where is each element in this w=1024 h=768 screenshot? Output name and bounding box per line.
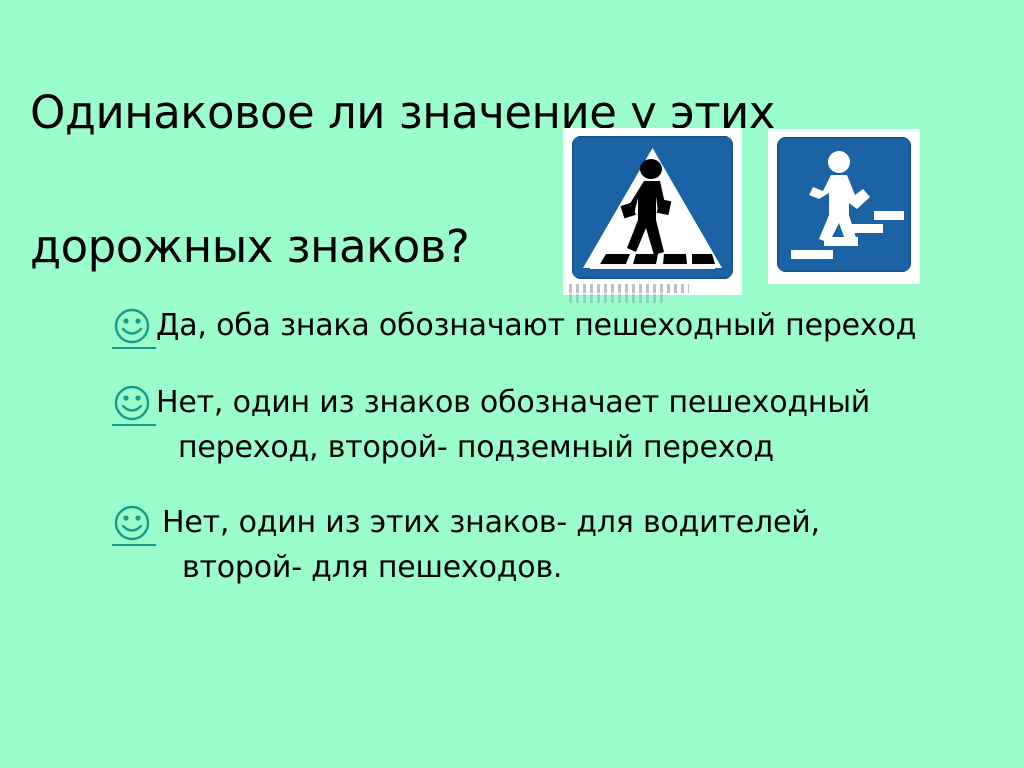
- answer-option-text: Да, оба знака обозначают пешеходный пере…: [156, 303, 942, 348]
- sign-scan-artifact: [569, 284, 689, 293]
- smiley-face-bullet-icon: [112, 380, 156, 423]
- bullet-underline: [112, 544, 156, 546]
- title-line-1: Одинаковое ли значение у этих: [30, 46, 590, 180]
- pedestrian-crossing-sign-face: [572, 136, 733, 279]
- list-item[interactable]: Нет, один из знаков обозначает пешеходны…: [112, 380, 942, 470]
- sign-scan-artifact-secondary: [569, 294, 665, 303]
- underground-crossing-sign: [768, 129, 920, 284]
- underground-crossing-sign-face: [777, 137, 911, 272]
- smiley-face-bullet-icon: [112, 500, 156, 543]
- answer-option-text: Нет, один из знаков обозначает пешеходны…: [156, 380, 942, 470]
- pedestrian-crossing-sign: [563, 128, 742, 295]
- answer-options-list: Да, оба знака обозначают пешеходный пере…: [112, 303, 942, 616]
- bullet-underline: [112, 424, 156, 426]
- list-item[interactable]: Да, оба знака обозначают пешеходный пере…: [112, 303, 942, 348]
- list-item[interactable]: Нет, один из этих знаков- для водителей,…: [112, 500, 942, 590]
- pedestrian-crossing-icon: [572, 136, 733, 279]
- title-line-2: дорожных знаков?: [30, 180, 590, 314]
- slide-title: Одинаковое ли значение у этих дорожных з…: [30, 46, 590, 314]
- bullet-underline: [112, 347, 156, 349]
- smiley-face-bullet-icon: [112, 303, 156, 346]
- presentation-slide: Одинаковое ли значение у этих дорожных з…: [0, 0, 1024, 768]
- stairs-pedestrian-icon: [777, 137, 911, 272]
- answer-option-text: Нет, один из этих знаков- для водителей,…: [156, 500, 942, 590]
